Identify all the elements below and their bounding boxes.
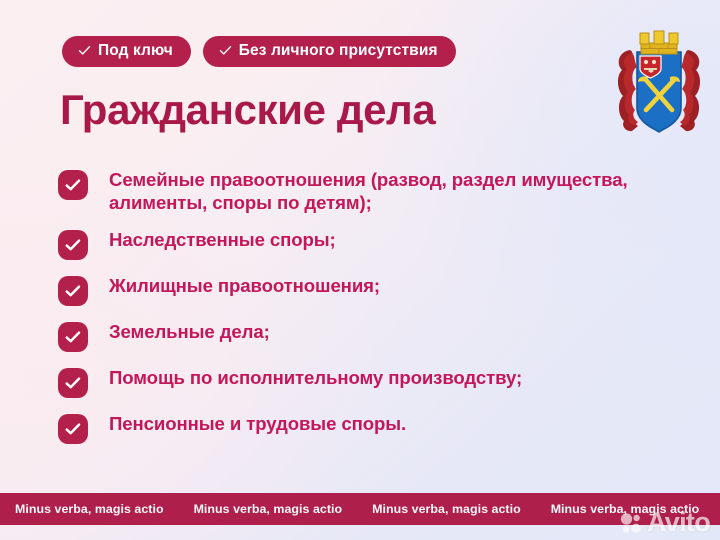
badge-no-presence[interactable]: Без личного присутствия (203, 36, 456, 67)
ticker-motto: Minus verba, magis actio (0, 502, 179, 516)
check-badge-icon (58, 230, 88, 260)
badge-turnkey[interactable]: Под ключ (62, 36, 191, 67)
ticker-motto: Minus verba, magis actio (714, 502, 720, 516)
list-item: Семейные правоотношения (развод, раздел … (58, 168, 658, 214)
ticker-motto: Minus verba, magis actio (357, 502, 536, 516)
list-item-label: Наследственные споры; (109, 228, 336, 251)
services-list: Семейные правоотношения (развод, раздел … (58, 168, 658, 444)
list-item-label: Земельные дела; (109, 320, 270, 343)
list-item: Жилищные правоотношения; (58, 274, 658, 306)
list-item: Земельные дела; (58, 320, 658, 352)
badge-turnkey-label: Под ключ (98, 43, 173, 59)
avito-dots-icon (620, 512, 642, 534)
badge-row: Под ключ Без личного присутствия (62, 36, 456, 67)
avito-logo-icon: Avito (620, 509, 710, 536)
footer-ticker: Minus verba, magis actio Minus verba, ma… (0, 493, 720, 525)
check-badge-icon (58, 322, 88, 352)
page-title: Гражданские дела (60, 86, 435, 134)
list-item-label: Пенсионные и трудовые споры. (109, 412, 406, 435)
avito-wordmark: Avito (647, 509, 710, 536)
list-item: Пенсионные и трудовые споры. (58, 412, 658, 444)
slide-canvas: Под ключ Без личного присутствия Граждан… (0, 0, 720, 540)
ticker-track: Minus verba, magis actio Minus verba, ma… (0, 502, 720, 516)
check-badge-icon (58, 368, 88, 398)
list-item-label: Жилищные правоотношения; (109, 274, 380, 297)
check-icon (78, 44, 91, 57)
list-item-label: Помощь по исполнительному производству; (109, 366, 522, 389)
check-badge-icon (58, 414, 88, 444)
coat-of-arms-icon (610, 22, 708, 144)
list-item: Наследственные споры; (58, 228, 658, 260)
ticker-motto: Minus verba, magis actio (179, 502, 358, 516)
list-item-label: Семейные правоотношения (развод, раздел … (109, 168, 658, 214)
check-badge-icon (58, 170, 88, 200)
check-icon (219, 44, 232, 57)
list-item: Помощь по исполнительному производству; (58, 366, 658, 398)
check-badge-icon (58, 276, 88, 306)
badge-no-presence-label: Без личного присутствия (239, 43, 438, 59)
